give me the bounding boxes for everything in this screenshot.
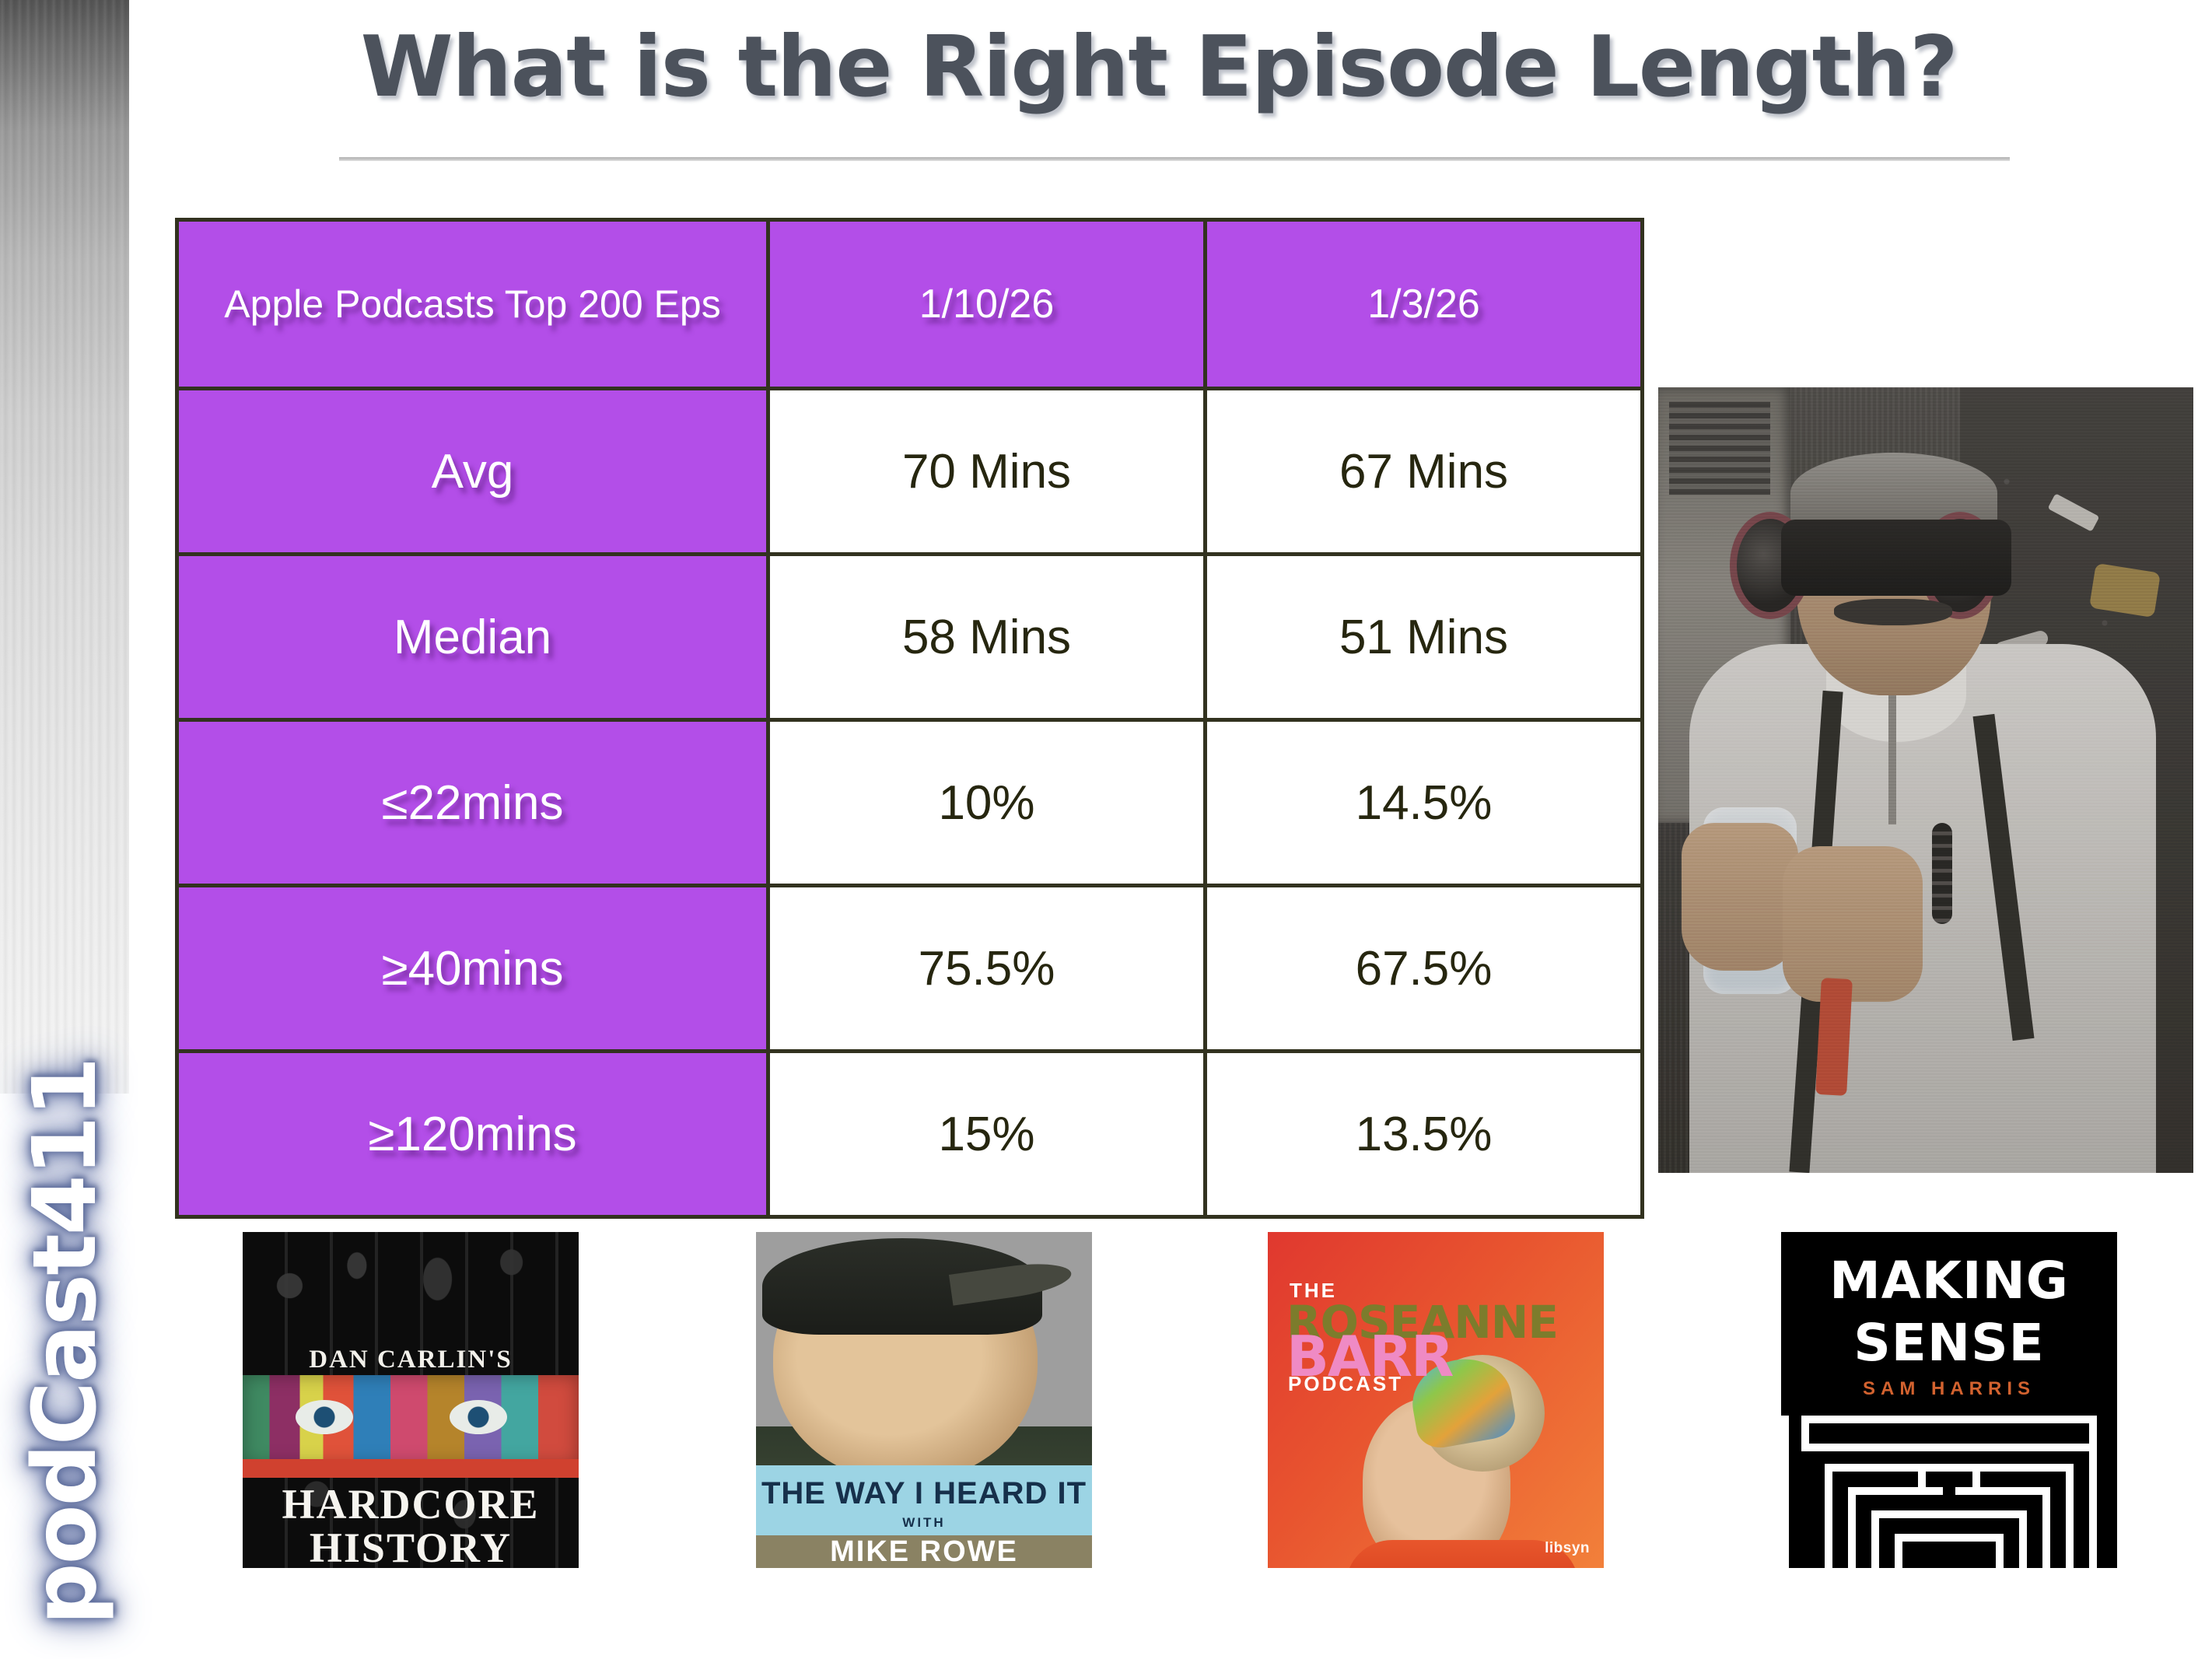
- row-label: Median: [177, 555, 768, 720]
- row-value-col1: 15%: [768, 1052, 1206, 1217]
- table-header-row: Apple Podcasts Top 200 Eps 1/10/26 1/3/2…: [177, 220, 1643, 389]
- brand-wordmark-container: podCast411: [0, 1054, 131, 1629]
- cover-title-line1: MAKING: [1781, 1251, 2117, 1311]
- cover-host: SAM HARRIS: [1781, 1378, 2117, 1400]
- table-header-col2: 1/3/26: [1206, 220, 1643, 389]
- row-label: ≥40mins: [177, 886, 768, 1052]
- cover-host: MIKE ROWE: [756, 1535, 1092, 1568]
- eye-right: [450, 1400, 507, 1434]
- table-row: Avg 70 Mins 67 Mins: [177, 389, 1643, 555]
- cover-eyes-artwork: [243, 1375, 579, 1465]
- table-header-label: Apple Podcasts Top 200 Eps: [177, 220, 768, 389]
- row-value-col1: 10%: [768, 720, 1206, 886]
- podcast-cover-hardcore-history[interactable]: DAN CARLIN'S HARDCORE HISTORY: [243, 1232, 579, 1568]
- table-row: ≤22mins 10% 14.5%: [177, 720, 1643, 886]
- page-title: What is the Right Episode Length?: [140, 22, 2178, 114]
- cover-title-line1: HARDCORE: [243, 1482, 579, 1526]
- podcast-cover-making-sense[interactable]: MAKING SENSE SAM HARRIS: [1781, 1232, 2117, 1568]
- row-value-col2: 51 Mins: [1206, 555, 1643, 720]
- table-row: Median 58 Mins 51 Mins: [177, 555, 1643, 720]
- libsyn-logo: libsyn: [1545, 1540, 1590, 1557]
- cover-author-line: DAN CARLIN'S: [243, 1346, 579, 1374]
- cover-person-shirt: [1346, 1540, 1579, 1568]
- row-value-col2: 67.5%: [1206, 886, 1643, 1052]
- studio-photo: [1658, 387, 2193, 1173]
- cover-red-band: [243, 1459, 579, 1478]
- title-divider: [339, 157, 2010, 161]
- cover-title-line2: SENSE: [1781, 1313, 2117, 1373]
- table-row: ≥40mins 75.5% 67.5%: [177, 886, 1643, 1052]
- brand-wordmark: podCast411: [15, 1058, 116, 1625]
- maze-artwork: [1781, 1416, 2117, 1568]
- row-label: ≤22mins: [177, 720, 768, 886]
- cover-title: THE WAY I HEARD IT: [756, 1465, 1092, 1521]
- row-value-col1: 58 Mins: [768, 555, 1206, 720]
- table-row: ≥120mins 15% 13.5%: [177, 1052, 1643, 1217]
- row-value-col2: 14.5%: [1206, 720, 1643, 886]
- cover-title-line2: HISTORY: [243, 1526, 579, 1568]
- eye-left: [296, 1400, 353, 1434]
- row-value-col1: 70 Mins: [768, 389, 1206, 555]
- podcast-cover-way-i-heard-it[interactable]: THE WAY I HEARD IT WITH MIKE ROWE: [756, 1232, 1092, 1568]
- episode-length-table: Apple Podcasts Top 200 Eps 1/10/26 1/3/2…: [175, 218, 1644, 1219]
- cover-podcast-label: PODCAST: [1288, 1372, 1403, 1396]
- podcast-cover-roseanne-barr[interactable]: THE ROSEANNE BARR PODCAST libsyn: [1268, 1232, 1604, 1568]
- row-value-col2: 67 Mins: [1206, 389, 1643, 555]
- table-header-col1: 1/10/26: [768, 220, 1206, 389]
- row-value-col2: 13.5%: [1206, 1052, 1643, 1217]
- photo-grain-overlay: [1658, 387, 2193, 1173]
- cover-title: HARDCORE HISTORY: [243, 1482, 579, 1568]
- row-value-col1: 75.5%: [768, 886, 1206, 1052]
- brand-rail: [0, 0, 129, 1094]
- row-label: ≥120mins: [177, 1052, 768, 1217]
- row-label: Avg: [177, 389, 768, 555]
